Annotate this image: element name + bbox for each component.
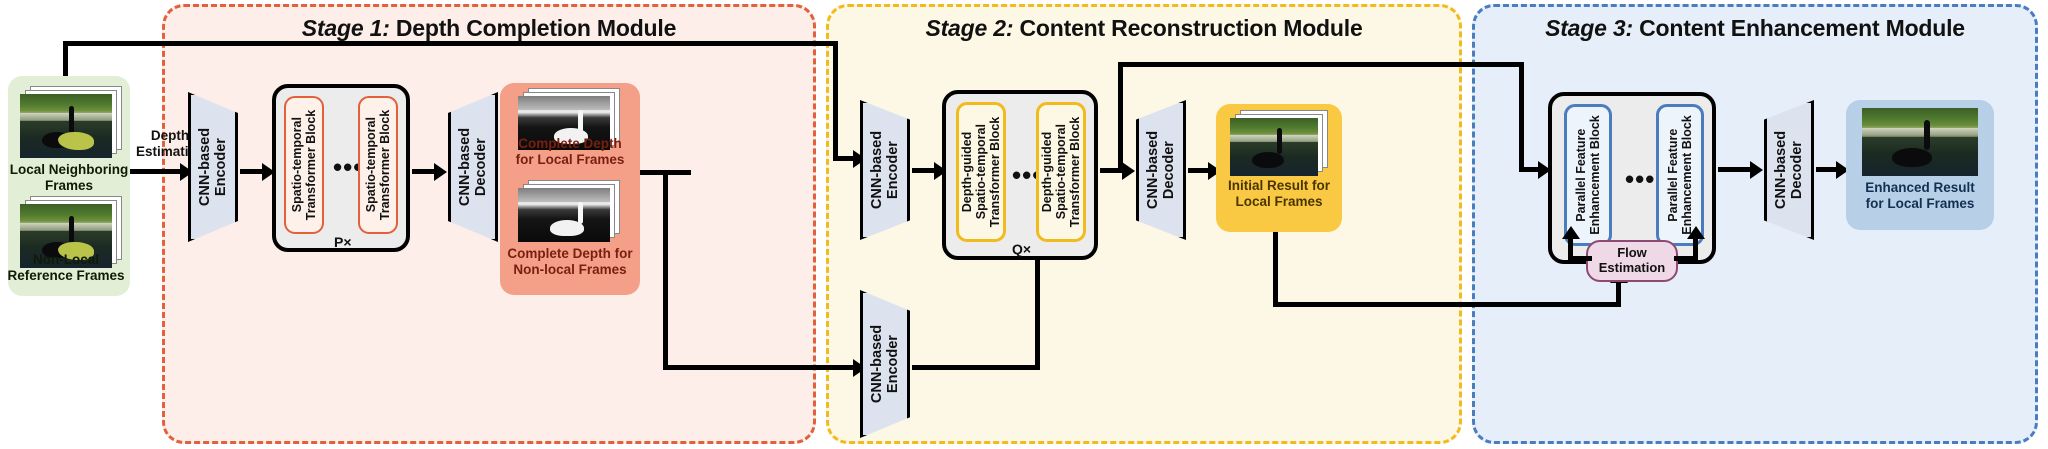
stage2-repeat-count: Q× [1012,241,1031,257]
stage3-block1-line2: Enhancement Block [1588,115,1602,234]
stage1-cnn-decoder-line1: CNN-based [457,128,473,206]
stage-1-title: Stage 1: Depth Completion Module [165,15,813,42]
complete-depth-local-line1: Complete Depth [502,136,638,152]
complete-depth-nonlocal-thumbnail [518,180,626,244]
flow-estimation-label: Flow Estimation [1586,245,1678,276]
stage3-blockn-line1: Parallel Feature [1666,128,1680,221]
stage2-to-stage3-skip-horizontal [1118,62,1524,67]
initial-result-photo [1230,118,1318,176]
stage3-enhancement-block-n: Parallel Feature Enhancement Block [1656,104,1704,246]
stage-3-title-rest: Content Enhancement Module [1633,15,1965,41]
depth-swan-neck [578,202,583,224]
local-frame-photo [20,94,112,158]
nonlocal-frames-caption: Non-Local Reference Frames [0,252,132,284]
complete-depth-nonlocal-image [518,188,610,242]
enhanced-result-line2: for Local Frames [1846,196,1994,212]
stage1-transformer-group: Spatio-temporal Transformer Block ••• Sp… [272,84,410,252]
stage1-transformer-block-1: Spatio-temporal Transformer Block [284,96,324,234]
depth-output-tap-vertical [663,170,668,370]
stage2-cnn-decoder: CNN-based Decoder [1136,100,1186,240]
stage2-encoder-top-line1: CNN-based [869,131,885,209]
stage3-blockn-line2: Enhancement Block [1680,115,1694,234]
stage1-blockn-line1: Spatio-temporal [364,117,378,212]
stage2-depth-feature-vertical [1035,258,1040,370]
enhanced-result-caption: Enhanced Result for Local Frames [1846,180,1994,212]
stage3-enhancement-block-1-label: Parallel Feature Enhancement Block [1574,115,1602,234]
stage-2-panel: Stage 2: Content Reconstruction Module [826,4,1462,444]
stage2-to-stage3-skip-vertical-left [1118,62,1123,170]
complete-depth-local-line2: for Local Frames [502,152,638,168]
stage1-transformer-block-1-label: Spatio-temporal Transformer Block [290,110,318,220]
stage3-blocks-ellipsis: ••• [1625,166,1655,192]
stage1-cnn-encoder: CNN-based Encoder [188,92,238,242]
stage1-cnn-encoder-label: CNN-based Encoder [197,128,229,206]
stage2-encoder-bottom-line2: Encoder [885,335,901,393]
arrow-stage2-blocks-to-decoder-head [1122,162,1135,180]
stage2-depth-feature-horizontal [912,365,1040,370]
stage3-cnn-decoder-label: CNN-based Decoder [1773,131,1805,209]
stage-3-title: Stage 3: Content Enhancement Module [1475,15,2035,42]
complete-depth-local-caption: Complete Depth for Local Frames [502,136,638,168]
local-frames-caption-line2: Frames [4,178,134,194]
stage2-transformer-block-n-label: Depth-guided Spatio-temporal Transformer… [1040,117,1082,227]
photo-swan-neck [69,216,74,244]
flow-estimation-line1: Flow [1586,245,1678,260]
initial-result-to-flow-horizontal [1273,302,1621,307]
skip-wire-input-top-horizontal [63,41,838,46]
stage3-enhancement-block-1: Parallel Feature Enhancement Block [1564,104,1612,246]
flow-to-block1-vertical [1568,238,1573,261]
depth-to-stage2-encoder-bottom-line [663,365,855,370]
stage2-block1-line3: Transformer Block [988,117,1002,227]
skip-wire-to-stage2-vertical [833,41,838,159]
stage1-block1-line2: Transformer Block [304,110,318,220]
skip-wire-to-stage2-encoder-horizontal [833,156,855,161]
stage2-encoder-top-line2: Encoder [885,141,901,199]
stage3-cnn-decoder-line1: CNN-based [1773,131,1789,209]
complete-depth-nonlocal-line2: Non-local Frames [500,262,640,278]
stage2-transformer-block-n: Depth-guided Spatio-temporal Transformer… [1036,102,1086,242]
arrow-stage3-blocks-to-decoder-line [1718,167,1754,172]
stage2-block1-line1: Depth-guided [960,132,974,213]
stage-1-title-rest: Depth Completion Module [390,15,677,41]
flow-to-blockn-arrowhead [1687,226,1705,239]
local-frames-thumbnail-stack [20,86,122,158]
enhanced-result-photo [1862,108,1978,176]
initial-result-caption: Initial Result for Local Frames [1216,178,1342,210]
local-frames-caption-line1: Local Neighboring [4,162,134,178]
initial-result-to-flow-riser [1616,282,1621,307]
photo-bank [20,113,112,119]
stage2-blockn-line3: Transformer Block [1068,117,1082,227]
stage2-blockn-line2: Spatio-temporal [1054,124,1068,219]
stage-3-title-prefix: Stage 3: [1545,15,1633,41]
stage2-cnn-encoder-bottom: CNN-based Encoder [860,290,910,438]
depth-swan-body [550,220,584,236]
flow-estimation-line2: Estimation [1586,260,1678,275]
photo-bank [20,223,112,229]
stage1-cnn-decoder: CNN-based Decoder [448,92,498,242]
stage2-cnn-encoder-top: CNN-based Encoder [860,100,910,240]
stage2-transformer-block-1-label: Depth-guided Spatio-temporal Transformer… [960,117,1002,227]
stage2-cnn-decoder-line1: CNN-based [1145,131,1161,209]
photo-swan-body [1892,148,1932,167]
depth-top-band [518,188,610,202]
stage1-blockn-line2: Transformer Block [378,110,392,220]
stage1-block1-line1: Spatio-temporal [290,117,304,212]
stage1-cnn-encoder-line2: Encoder [213,138,229,196]
arrow-blocks-to-decoder1-head [434,163,447,181]
stage3-cnn-decoder-line2: Decoder [1789,141,1805,199]
initial-result-line2: Local Frames [1216,194,1342,210]
architecture-diagram: Stage 1: Depth Completion Module Stage 2… [0,0,2048,449]
arrow-stage3-blocks-to-decoder-head [1750,161,1763,179]
stage2-transformer-block-1: Depth-guided Spatio-temporal Transformer… [956,102,1006,242]
stage1-repeat-count: P× [334,234,352,250]
stage2-to-stage3-skip-vertical-right [1519,62,1524,170]
stage1-transformer-block-n-label: Spatio-temporal Transformer Block [364,110,392,220]
stage2-transformer-group: Depth-guided Spatio-temporal Transformer… [942,90,1098,260]
stage3-cnn-decoder: CNN-based Decoder [1764,100,1814,240]
stage2-blockn-line1: Depth-guided [1040,132,1054,213]
stage3-block1-line1: Parallel Feature [1574,128,1588,221]
stage2-cnn-encoder-top-label: CNN-based Encoder [869,131,901,209]
initial-result-line1: Initial Result for [1216,178,1342,194]
photo-bank [1862,128,1978,134]
enhanced-result-line1: Enhanced Result [1846,180,1994,196]
stage1-transformer-block-n: Spatio-temporal Transformer Block [358,96,398,234]
flow-to-block1-arrowhead [1562,226,1580,239]
initial-result-to-flow-vertical [1273,232,1278,307]
stage2-cnn-decoder-label: CNN-based Decoder [1145,131,1177,209]
stage1-cnn-decoder-line2: Decoder [473,138,489,196]
arrow-input-to-encoder1-line [130,169,182,174]
depth-to-stage2-encoder-top-line [663,170,691,175]
local-frames-caption: Local Neighboring Frames [4,162,134,194]
stage-2-title-prefix: Stage 2: [925,15,1013,41]
photo-bank [1230,135,1318,140]
complete-depth-nonlocal-caption: Complete Depth for Non-local Frames [500,246,640,278]
photo-swan-body [1252,152,1284,168]
stage-2-title: Stage 2: Content Reconstruction Module [829,15,1459,42]
photo-swan-neck [1277,128,1282,154]
stage1-cnn-decoder-label: CNN-based Decoder [457,128,489,206]
depth-top-band [518,96,610,110]
enhanced-result-thumbnail [1862,108,1980,180]
photo-swan-neck [1924,120,1930,150]
flow-to-blockn-vertical [1693,238,1698,261]
stage2-block1-line2: Spatio-temporal [974,124,988,219]
stage3-enhancement-block-n-label: Parallel Feature Enhancement Block [1666,115,1694,234]
photo-swan-neck [69,106,74,134]
stage2-cnn-decoder-line2: Decoder [1161,141,1177,199]
stage1-cnn-encoder-line1: CNN-based [197,128,213,206]
stage-1-title-prefix: Stage 1: [302,15,390,41]
stage2-encoder-bottom-line1: CNN-based [869,325,885,403]
complete-depth-nonlocal-line1: Complete Depth for [500,246,640,262]
stage-2-title-rest: Content Reconstruction Module [1013,15,1362,41]
nonlocal-frames-caption-line1: Non-Local [0,252,132,268]
initial-result-thumbnail [1230,110,1334,180]
stage2-cnn-encoder-bottom-label: CNN-based Encoder [869,325,901,403]
nonlocal-frames-caption-line2: Reference Frames [0,268,132,284]
